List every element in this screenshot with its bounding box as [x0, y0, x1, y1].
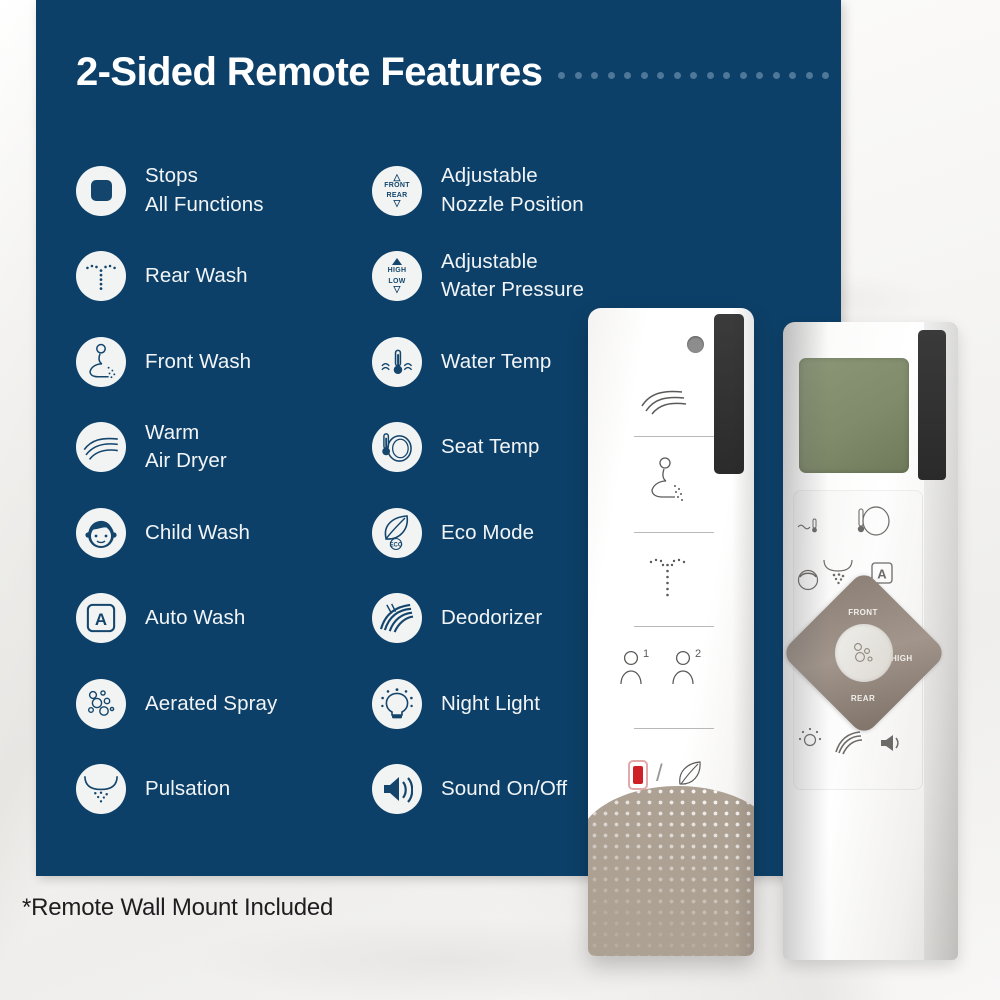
feature-label-line1: Child Wash	[145, 521, 250, 544]
feature-item-pulsation: Pulsation	[76, 747, 372, 833]
svg-text:2: 2	[695, 648, 701, 660]
dpad-label-rear: REAR	[823, 694, 903, 703]
deco-dot	[789, 72, 796, 79]
feature-label-line1: Warm	[145, 421, 199, 444]
feature-label: Aerated Spray	[145, 690, 277, 718]
feature-label: Pulsation	[145, 775, 230, 803]
user-preset-1-icon[interactable]: 1	[618, 648, 652, 691]
feature-label-line1: Deodorizer	[441, 606, 542, 629]
water-pressure-high-low-icon: HIGHLOW▽	[388, 258, 407, 294]
feature-label-line2: Water Pressure	[441, 278, 584, 301]
divider	[634, 728, 714, 729]
deco-dot	[657, 72, 664, 79]
product-photo: A FRONT REAR HIGH	[570, 300, 1000, 1000]
water-thermometer-icon	[372, 337, 422, 387]
divider	[634, 436, 714, 437]
svg-text:1: 1	[643, 648, 649, 660]
feature-label-line1: Eco Mode	[441, 521, 534, 544]
dpad-label-front: FRONT	[823, 608, 903, 617]
feature-label: Eco Mode	[441, 519, 534, 547]
divider	[634, 626, 714, 627]
auto-wash-a-icon: A	[76, 593, 126, 643]
lcd-display	[799, 358, 909, 473]
dpad-label-high: HIGH	[891, 654, 913, 663]
feature-item-auto-wash-a: AAuto Wash	[76, 576, 372, 662]
svg-text:ECO: ECO	[389, 543, 402, 549]
feature-item-front-wash-seated-person: Front Wash	[76, 319, 372, 405]
front-remote-edge	[732, 308, 754, 956]
feature-label: Child Wash	[145, 519, 250, 547]
feature-label: WarmAir Dryer	[145, 419, 227, 476]
seat-thermometer-icon	[372, 422, 422, 472]
chevron-up-icon: △	[394, 173, 401, 182]
stop-square-icon	[76, 166, 126, 216]
feature-label: Auto Wash	[145, 604, 245, 632]
deco-dot	[575, 72, 582, 79]
speaker-sound-icon	[372, 764, 422, 814]
deco-dot	[558, 72, 565, 79]
pulsation-icon	[76, 764, 126, 814]
feature-label-line1: Adjustable	[441, 250, 538, 273]
feature-label-line1: Pulsation	[145, 777, 230, 800]
deco-dot	[822, 72, 829, 79]
child-face-icon	[76, 508, 126, 558]
deodorizer-fan-icon	[372, 593, 422, 643]
feature-label-line1: Night Light	[441, 692, 540, 715]
deco-dot	[641, 72, 648, 79]
svg-text:A: A	[95, 610, 107, 629]
feature-label-line1: Stops	[145, 164, 198, 187]
feature-label: StopsAll Functions	[145, 162, 264, 219]
feature-label-line1: Auto Wash	[145, 606, 245, 629]
footnote: *Remote Wall Mount Included	[22, 894, 333, 922]
triangle-up-icon	[392, 258, 402, 265]
deco-dot	[773, 72, 780, 79]
feature-item-aerated-bubbles: Aerated Spray	[76, 661, 372, 747]
feature-label-line2: Nozzle Position	[441, 193, 584, 216]
dotted-rule	[558, 72, 829, 79]
deodorizer-fan-icon	[833, 730, 863, 761]
deco-dot	[690, 72, 697, 79]
feature-label: Night Light	[441, 690, 540, 718]
user-preset-2-icon[interactable]: 2	[670, 648, 704, 691]
feature-label-line1: Adjustable	[441, 164, 538, 187]
feature-label: Seat Temp	[441, 433, 540, 461]
feature-label-line1: Seat Temp	[441, 435, 540, 458]
feature-label: Sound On/Off	[441, 775, 567, 803]
feature-label-line1: Water Temp	[441, 350, 551, 373]
separator-slash: /	[656, 760, 663, 788]
back-remote-dark-strip	[918, 330, 946, 480]
feature-label-line2: All Functions	[145, 193, 264, 216]
pressure-label-high: HIGH	[388, 267, 407, 274]
feature-label: AdjustableWater Pressure	[441, 248, 584, 305]
feature-label: Rear Wash	[145, 262, 248, 290]
rear-wash-spray-icon[interactable]	[646, 556, 690, 609]
feature-item-warm-air-dryer-waves: WarmAir Dryer	[76, 405, 372, 491]
feature-label: AdjustableNozzle Position	[441, 162, 584, 219]
night-light-bulb-icon	[797, 726, 823, 757]
dpad-center-button[interactable]	[835, 624, 893, 682]
nozzle-position-front-rear-icon: △FRONTREAR▽	[372, 166, 422, 216]
feature-item-stop-square: StopsAll Functions	[76, 148, 372, 234]
eco-leaf-icon: ECO	[372, 508, 422, 558]
triangle-down-icon: ▽	[394, 285, 401, 294]
feature-label-line2: Air Dryer	[145, 449, 227, 472]
water-thermometer-icon	[797, 518, 819, 539]
speaker-sound-icon	[879, 732, 903, 759]
front-remote: 1 2 / ECO USPA	[588, 308, 754, 956]
deco-dot	[591, 72, 598, 79]
nozzle-position-front-rear-icon: △FRONTREAR▽	[384, 173, 410, 208]
deco-dot	[674, 72, 681, 79]
feature-item-child-face: Child Wash	[76, 490, 372, 576]
feature-item-rear-wash-spray: Rear Wash	[76, 234, 372, 320]
ir-led-icon	[687, 336, 704, 353]
stop-button-icon[interactable]	[628, 760, 648, 790]
front-wash-seated-person-icon[interactable]	[644, 456, 690, 513]
back-remote: A FRONT REAR HIGH	[783, 322, 958, 960]
halftone-wave-graphic	[588, 786, 754, 956]
feature-label: Front Wash	[145, 348, 251, 376]
deco-dot	[723, 72, 730, 79]
feature-label: Water Temp	[441, 348, 551, 376]
nozzle-label-front: FRONT	[384, 182, 410, 189]
aerated-bubbles-icon	[76, 679, 126, 729]
deco-dot	[740, 72, 747, 79]
feature-label-line1: Front Wash	[145, 350, 251, 373]
deco-dot	[624, 72, 631, 79]
aerated-bubbles-icon	[847, 638, 881, 668]
deco-dot	[707, 72, 714, 79]
feature-label: Deodorizer	[441, 604, 542, 632]
feature-item-nozzle-position-front-rear: △FRONTREAR▽AdjustableNozzle Position	[372, 148, 668, 234]
panel-header: 2-Sided Remote Features	[76, 52, 841, 92]
svg-text:A: A	[877, 567, 887, 582]
water-pressure-high-low-icon: HIGHLOW▽	[372, 251, 422, 301]
feature-label-line1: Aerated Spray	[145, 692, 277, 715]
stop-square-icon	[91, 180, 112, 201]
page-title: 2-Sided Remote Features	[76, 52, 542, 92]
feature-label-line1: Rear Wash	[145, 264, 248, 287]
chevron-down-icon: ▽	[394, 199, 401, 208]
divider	[634, 532, 714, 533]
child-face-icon	[795, 568, 821, 597]
front-wash-seated-person-icon	[76, 337, 126, 387]
rear-wash-spray-icon	[76, 251, 126, 301]
deco-dot	[756, 72, 763, 79]
feature-label-line1: Sound On/Off	[441, 777, 567, 800]
night-light-bulb-icon	[372, 679, 422, 729]
deco-dot	[806, 72, 813, 79]
warm-air-dryer-waves-icon	[76, 422, 126, 472]
seat-thermometer-icon	[853, 504, 893, 543]
deco-dot	[608, 72, 615, 79]
warm-air-dryer-waves-icon[interactable]	[640, 386, 688, 421]
